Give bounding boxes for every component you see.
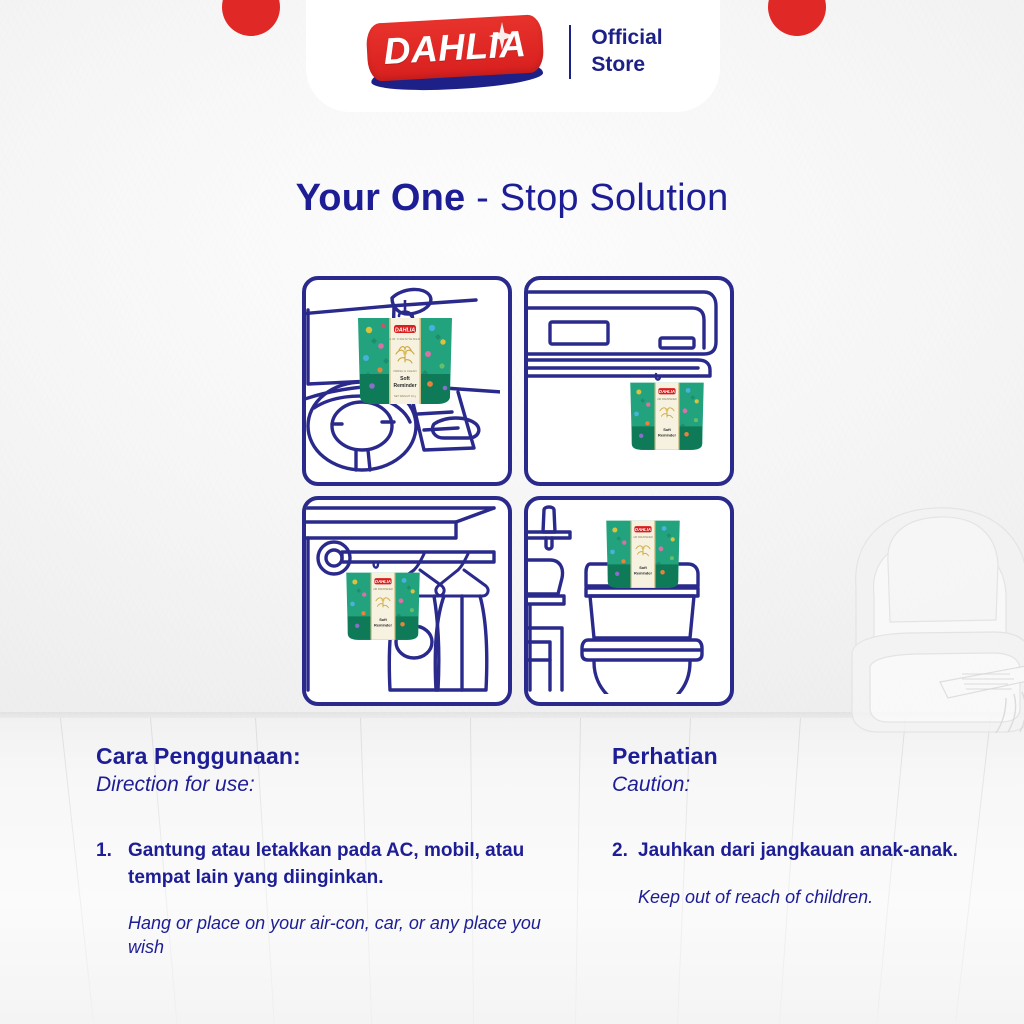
svg-text:FRESH & CLEAN: FRESH & CLEAN [394,369,417,373]
usage-item: 1. Gantung atau letakkan pada AC, mobil,… [96,838,566,959]
svg-text:Reminder: Reminder [393,383,416,389]
svg-text:DAHLIA: DAHLIA [395,327,415,333]
svg-text:AIR FRESHENER: AIR FRESHENER [373,588,393,591]
panel-wardrobe[interactable]: DAHLIA AIR FRESHENER Soft Reminder [302,496,512,706]
logo-wordmark: DAHLIA [362,14,549,82]
floorboard-line [575,718,581,1024]
svg-text:DAHLIA: DAHLIA [659,389,675,394]
svg-text:AIR FRESHENER: AIR FRESHENER [633,536,653,539]
dahlia-logo[interactable]: DAHLIA [363,13,549,91]
usage-panel-grid: DAHLIA AIR FRESHENER FRESH & CLEAN [302,276,726,696]
panel-car[interactable]: DAHLIA AIR FRESHENER FRESH & CLEAN [302,276,512,486]
caution-item-en-text: Keep out of reach of children. [638,885,992,909]
caution-title: Perhatian [612,742,992,770]
promo-page: DAHLIA Official Store Your One - Stop So… [0,0,1024,1024]
page-title-light: - Stop Solution [465,177,728,219]
caution-item: 2. Jauhkan dari jangkauan anak-anak. Kee… [612,838,992,908]
floorboard-line [60,718,94,1022]
svg-text:Soft: Soft [639,565,647,570]
page-title: Your One - Stop Solution [0,177,1024,220]
svg-text:AIR FRESHENER: AIR FRESHENER [657,398,677,401]
official-store-line2: Store [591,52,662,79]
svg-text:NET WEIGHT 10 g: NET WEIGHT 10 g [394,394,417,398]
instructions-usage: Cara Penggunaan: Direction for use: 1. G… [96,742,566,959]
page-title-strong: Your One [296,177,466,219]
header-banner: DAHLIA Official Store [0,0,1024,120]
caution-subtitle: Caution: [612,771,992,798]
official-store-label: Official Store [591,25,662,79]
usage-item-id-text: Gantung atau letakkan pada AC, mobil, at… [128,838,566,890]
svg-text:Soft: Soft [379,617,387,622]
svg-text:DAHLIA: DAHLIA [375,579,391,584]
header-red-dome-left [222,0,280,36]
instructions-caution: Perhatian Caution: 2. Jauhkan dari jangk… [612,742,992,909]
header-divider [569,25,571,79]
caution-item-id-text: Jauhkan dari jangkauan anak-anak. [638,838,992,864]
panel-aircon[interactable]: DAHLIA AIR FRESHENER Soft Reminder [524,276,734,486]
armchair-decoration [844,470,1024,735]
official-store-line1: Official [591,25,662,52]
usage-title: Cara Penggunaan: [96,742,566,770]
caution-item-number: 2. [612,838,638,908]
usage-subtitle: Direction for use: [96,771,566,798]
svg-text:Reminder: Reminder [374,623,392,628]
panel-bathroom[interactable]: DAHLIA AIR FRESHENER Soft Reminder [524,496,734,706]
usage-item-en-text: Hang or place on your air-con, car, or a… [128,911,566,959]
svg-text:Soft: Soft [400,376,410,382]
svg-text:Soft: Soft [663,427,671,432]
svg-text:AIR FRESHENER: AIR FRESHENER [389,337,421,341]
usage-item-number: 1. [96,838,128,959]
svg-text:DAHLIA: DAHLIA [635,527,651,532]
header-red-dome-right [768,0,826,36]
svg-text:Reminder: Reminder [634,571,652,576]
svg-text:Reminder: Reminder [658,433,676,438]
